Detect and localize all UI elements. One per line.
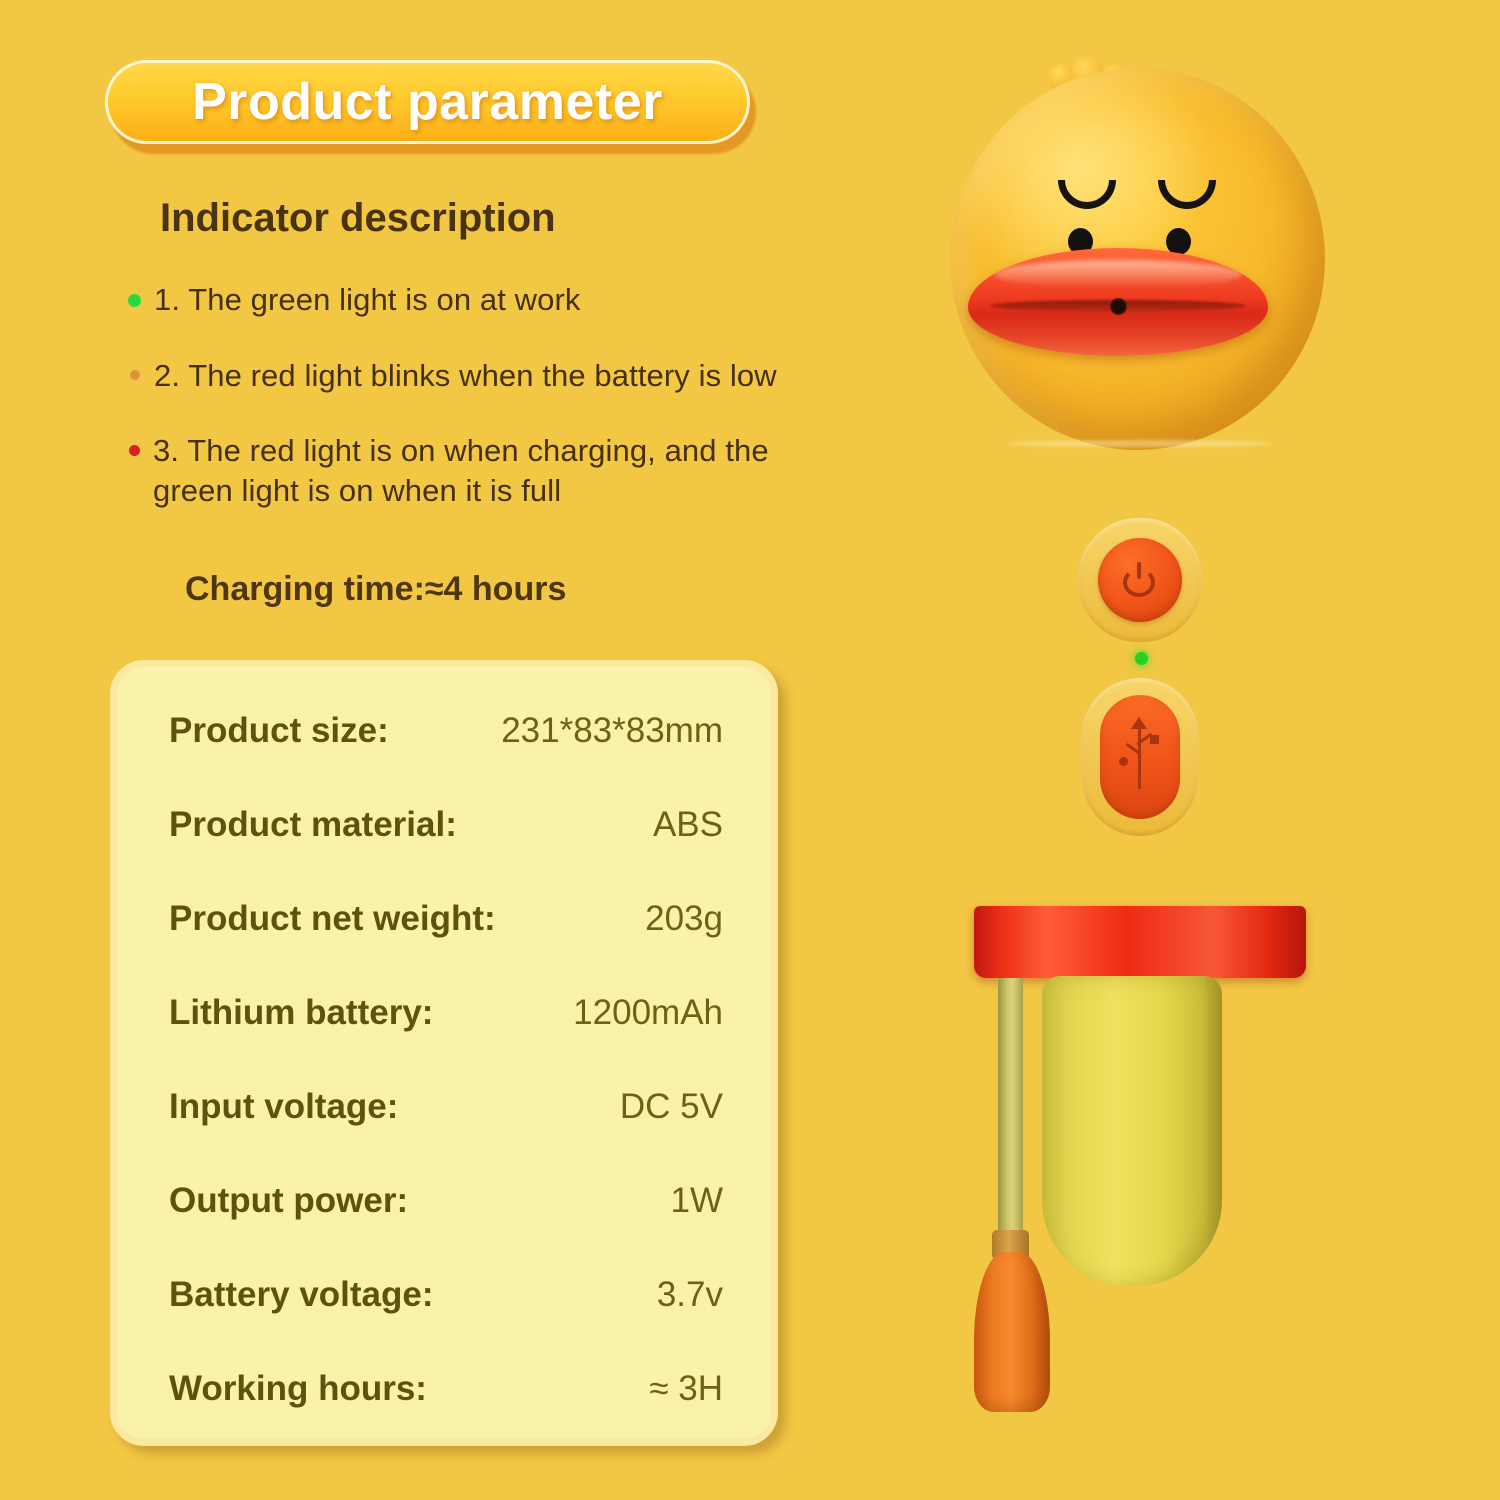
beater-shaft <box>998 978 1023 1234</box>
table-row: Product size: 231*83*83mm <box>169 711 723 805</box>
list-item: 3. The red light is on when charging, an… <box>128 431 828 510</box>
duck-eyebrow-right-icon <box>1158 180 1216 209</box>
spec-value: ABS <box>653 805 723 845</box>
spec-label: Product net weight: <box>169 899 496 939</box>
indicator-description-heading: Indicator description <box>160 196 556 241</box>
charging-time-label: Charging time:≈4 hours <box>185 570 566 609</box>
power-button[interactable] <box>1098 538 1182 622</box>
orange-beater-paddle <box>974 1252 1050 1412</box>
table-row: Working hours: ≈ 3H <box>169 1369 723 1463</box>
red-light-dot-icon <box>129 445 140 456</box>
spec-label: Battery voltage: <box>169 1275 434 1315</box>
power-icon <box>1123 563 1157 597</box>
table-row: Lithium battery: 1200mAh <box>169 993 723 1087</box>
spec-value: 203g <box>645 899 723 939</box>
bill-center-hole <box>1110 298 1127 315</box>
banner-pill: Product parameter <box>105 60 750 144</box>
spec-value: 3.7v <box>657 1275 723 1315</box>
green-light-dot-icon <box>128 294 141 307</box>
table-row: Input voltage: DC 5V <box>169 1087 723 1181</box>
table-row: Product net weight: 203g <box>169 899 723 993</box>
list-item: 1. The green light is on at work <box>128 280 828 320</box>
red-collar <box>974 906 1306 978</box>
spec-value: ≈ 3H <box>649 1369 723 1409</box>
status-led-green <box>1135 652 1148 665</box>
page-title-banner: Product parameter <box>105 60 750 148</box>
table-row: Battery voltage: 3.7v <box>169 1275 723 1369</box>
duck-bill <box>968 248 1268 356</box>
product-parameter-infographic: Product parameter Indicator description … <box>0 0 1500 1500</box>
body-seam-line <box>1008 440 1272 447</box>
list-item: 2. The red light blinks when the battery… <box>128 356 828 396</box>
orange-light-dot-icon <box>130 370 140 380</box>
product-image <box>930 40 1350 1470</box>
page-title: Product parameter <box>192 72 663 132</box>
spec-label: Lithium battery: <box>169 993 433 1033</box>
spec-label: Output power: <box>169 1181 408 1221</box>
table-row: Output power: 1W <box>169 1181 723 1275</box>
spec-value: 231*83*83mm <box>501 711 723 751</box>
usb-icon <box>1118 717 1162 797</box>
duck-eyebrow-left-icon <box>1058 180 1116 209</box>
indicator-list: 1. The green light is on at work 2. The … <box>128 280 828 547</box>
table-row: Product material: ABS <box>169 805 723 899</box>
spec-value: 1200mAh <box>573 993 723 1033</box>
spec-label: Product material: <box>169 805 457 845</box>
spec-value: 1W <box>671 1181 724 1221</box>
spec-value: DC 5V <box>620 1087 723 1127</box>
spec-label: Working hours: <box>169 1369 427 1409</box>
spec-label: Input voltage: <box>169 1087 398 1127</box>
usb-charging-port[interactable] <box>1100 695 1180 819</box>
list-item-label: 1. The green light is on at work <box>154 280 581 320</box>
list-item-label: 2. The red light blinks when the battery… <box>154 356 777 396</box>
spec-label: Product size: <box>169 711 389 751</box>
spec-card: Product size: 231*83*83mm Product materi… <box>110 660 778 1446</box>
list-item-label: 3. The red light is on when charging, an… <box>153 431 801 510</box>
yellow-protective-cup <box>1042 976 1222 1286</box>
